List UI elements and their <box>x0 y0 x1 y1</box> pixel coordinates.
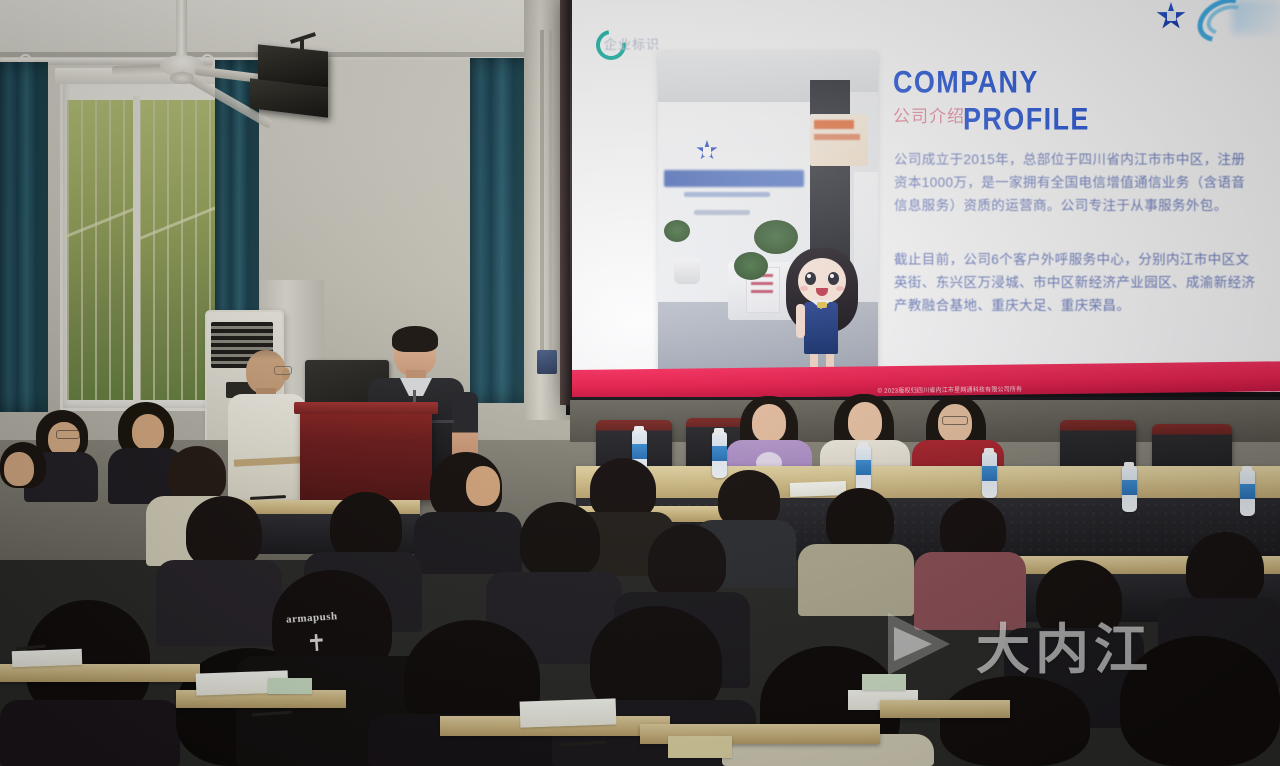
panel-table <box>576 466 1280 500</box>
window-pane-left <box>67 100 133 400</box>
audience-face <box>48 422 80 456</box>
fan-downrod <box>176 0 187 58</box>
screen-bezel-left <box>560 0 572 405</box>
audience-body <box>414 512 522 574</box>
audience-desk <box>0 664 200 682</box>
curtain-left <box>0 62 48 412</box>
podium <box>300 408 432 500</box>
fan-cap <box>170 72 194 84</box>
window-mullion <box>133 96 140 404</box>
wall-switch-box <box>537 350 557 374</box>
audience-head <box>940 498 1006 560</box>
slide-title-profile: PROFILE <box>963 101 1090 138</box>
audience-head <box>590 458 656 520</box>
audience-head <box>1186 532 1264 606</box>
panelist-2-head <box>848 402 882 442</box>
audience-face <box>4 452 34 486</box>
paper-sheet <box>668 736 732 758</box>
audience-desk <box>880 700 1010 718</box>
lecture-hall-screenshot: 企业标识 <box>0 0 1280 766</box>
slide-paragraph-2: 截止目前，公司6个客户外呼服务中心，分别内江市中区文英街、东兴区万浸城、市中区新… <box>894 248 1258 317</box>
audience-head <box>648 524 726 598</box>
audience-head <box>168 446 226 502</box>
audience-head <box>520 502 600 578</box>
audience-face <box>466 466 500 506</box>
watermark-text: 大内江 <box>976 605 1153 684</box>
curtain-beside-screen <box>470 58 528 403</box>
audience-head <box>186 496 262 568</box>
eyeglasses <box>274 366 292 375</box>
slide-office-photo <box>658 52 878 374</box>
panelist-1-head <box>752 404 786 442</box>
audience-body <box>156 560 282 646</box>
audience-head <box>330 492 402 560</box>
projection-screen: 企业标识 <box>570 0 1280 392</box>
paper-sheet <box>12 649 83 667</box>
slide-logo-label: 企业标识 <box>604 34 660 53</box>
audience-face <box>132 414 164 450</box>
audience-head-foreground <box>940 676 1090 766</box>
window-security-bars <box>67 100 133 400</box>
paper-sheet <box>520 698 617 727</box>
eyeglasses <box>56 430 80 439</box>
audience-body-foreground <box>0 700 180 766</box>
classroom-window <box>60 75 226 411</box>
wall-conduit <box>549 30 552 360</box>
audience-head <box>826 488 894 552</box>
podium-top <box>294 402 438 414</box>
paper-sheet-green <box>268 678 312 694</box>
wall-conduit <box>540 30 544 360</box>
play-triangle-icon <box>888 613 962 675</box>
broadcast-watermark: 大内江 <box>888 604 1188 684</box>
photo-wall-brand <box>664 170 804 187</box>
eyeglasses <box>942 416 968 425</box>
slide-paragraph-1: 公司成立于2015年，总部位于四川省内江市市中区，注册资本1000万，是一家拥有… <box>894 148 1258 217</box>
slide-title-company: COMPANY <box>893 64 1039 101</box>
slide-title-chinese: 公司介绍 <box>893 102 965 127</box>
